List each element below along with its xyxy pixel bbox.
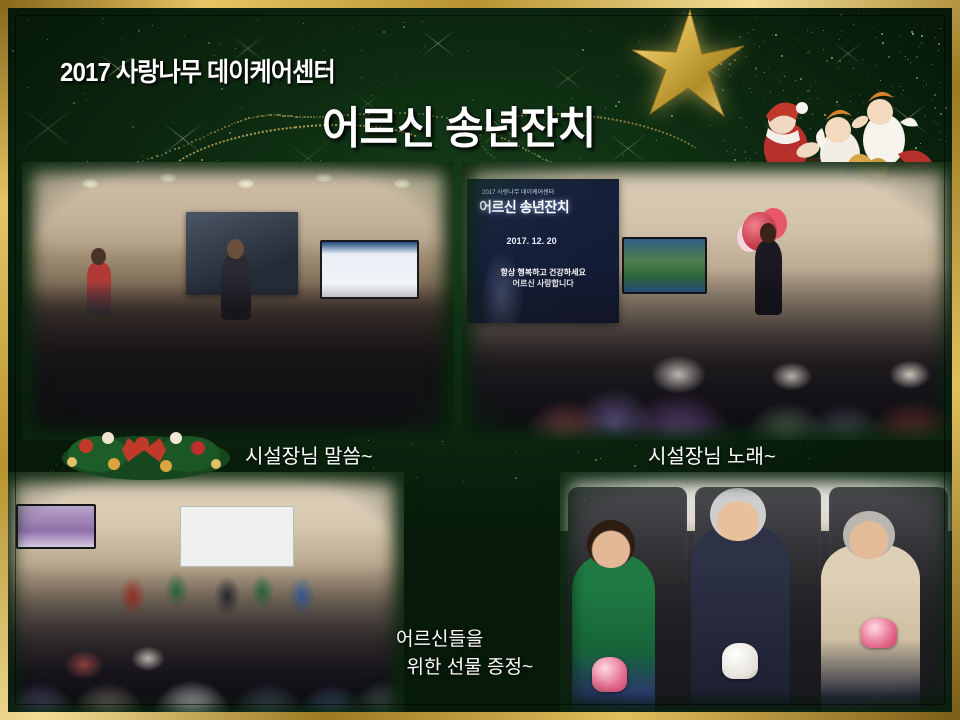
- slide-title: 어르신 송년잔치: [479, 197, 569, 217]
- photo-hall-presenter: [22, 162, 454, 440]
- poster-subtitle: 2017 사랑나무 데이케어센터: [60, 52, 335, 89]
- caption-gift-giving: 어르신들을 위한 선물 증정~: [396, 626, 533, 681]
- caption-director-speech: 시설장님 말씀~: [245, 440, 373, 469]
- slide-subtitle: 2017 사랑나무 데이케어센터: [482, 187, 554, 196]
- photo-gift-hall: [4, 472, 404, 716]
- poster-canvas: 2017 사랑나무 데이케어센터 어르신 송년잔치 2017 사랑나무 데이케어…: [0, 0, 960, 720]
- caption-director-song: 시설장님 노래~: [648, 440, 776, 469]
- gold-star-icon: [628, 6, 748, 124]
- christmas-wreath-icon: [56, 424, 236, 488]
- photo-sofa-gifts: [560, 472, 956, 716]
- slide-date: 2017. 12. 20: [507, 236, 557, 246]
- photo-slide-singer: 2017 사랑나무 데이케어센터 어르신 송년잔치 2017. 12. 20 항…: [462, 162, 954, 440]
- poster-title: 어르신 송년잔치: [322, 92, 595, 156]
